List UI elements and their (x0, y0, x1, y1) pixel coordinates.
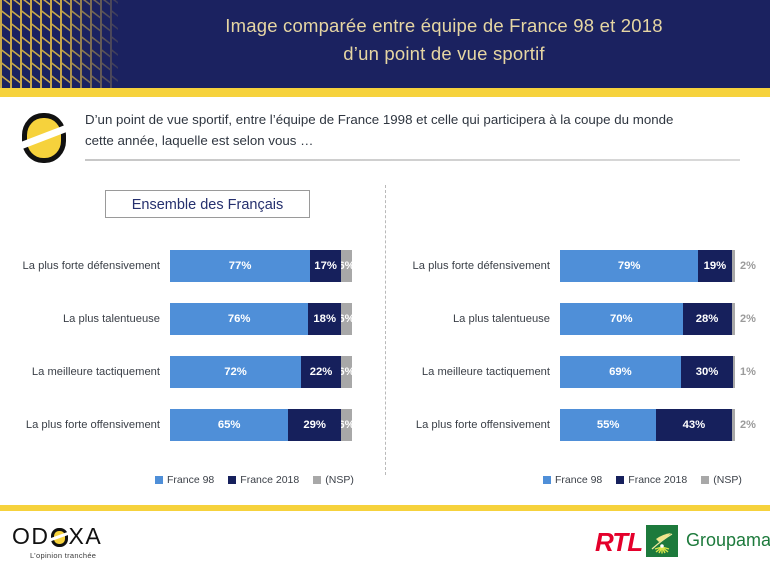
odoxa-coin-icon (22, 113, 66, 163)
bar-segment-3: 6% (341, 303, 352, 335)
bar-segment-1: 79% (560, 250, 698, 282)
odoxa-logo-coin-icon (51, 527, 68, 547)
legend-label: (NSP) (325, 474, 354, 486)
legend-swatch-icon (313, 476, 321, 484)
bar-category-label: La plus forte offensivement (395, 418, 550, 432)
bar-category-label: La plus forte défensivement (8, 259, 160, 273)
bar-segment-2: 28% (683, 303, 732, 335)
slide-root: Image comparée entre équipe de France 98… (0, 0, 770, 570)
bar-segment-3 (732, 409, 736, 441)
bar-outside-value-label: 1% (740, 356, 756, 388)
legend-swatch-icon (543, 476, 551, 484)
legend-item: France 98 (155, 474, 214, 486)
bar-category-label: La plus talentueuse (8, 312, 160, 326)
stacked-bar-row: 55%43% (560, 409, 735, 441)
page-title-line2: d’un point de vue sportif (118, 40, 770, 68)
bar-category-label: La meilleure tactiquement (395, 365, 550, 379)
bar-segment-1: 77% (170, 250, 310, 282)
bar-category-label: La plus forte défensivement (395, 259, 550, 273)
legend-left: France 98France 2018(NSP) (155, 474, 354, 486)
bar-segment-2: 19% (698, 250, 731, 282)
legend-label: France 2018 (628, 474, 687, 486)
bar-segment-1: 69% (560, 356, 681, 388)
question-line-1: D’un point de vue sportif, entre l’équip… (85, 109, 745, 130)
legend-label: France 98 (167, 474, 214, 486)
odoxa-tagline: L’opinion tranchée (30, 551, 96, 560)
stacked-bar-row: 79%19% (560, 250, 735, 282)
legend-item: (NSP) (701, 474, 742, 486)
groupama-dandelion-icon (646, 525, 678, 557)
rtl-logo: RTL (595, 527, 642, 558)
legend-item: France 98 (543, 474, 602, 486)
legend-swatch-icon (616, 476, 624, 484)
header-banner: Image comparée entre équipe de France 98… (0, 0, 770, 88)
bar-segment-2: 17% (310, 250, 341, 282)
question-text: D’un point de vue sportif, entre l’équip… (85, 109, 745, 151)
bar-segment-2: 30% (681, 356, 734, 388)
legend-swatch-icon (155, 476, 163, 484)
bar-outside-value-label: 2% (740, 409, 756, 441)
page-title-line1: Image comparée entre équipe de France 98… (118, 12, 770, 40)
bar-segment-3 (732, 250, 736, 282)
footer: OD XA L’opinion tranchée RTL Groupama (0, 511, 770, 570)
odoxa-logo-text-a: OD (12, 523, 50, 550)
odoxa-logo-text-b: XA (69, 523, 103, 550)
legend-item: France 2018 (228, 474, 299, 486)
stacked-bar-row: 77%17%6% (170, 250, 352, 282)
groupama-logo-text: Groupama (686, 530, 770, 551)
bar-segment-1: 72% (170, 356, 301, 388)
header-accent-band (0, 88, 770, 97)
bar-segment-2: 18% (308, 303, 341, 335)
bar-segment-1: 55% (560, 409, 656, 441)
legend-swatch-icon (228, 476, 236, 484)
page-title: Image comparée entre équipe de France 98… (118, 12, 770, 68)
bar-segment-3 (732, 303, 736, 335)
legend-label: France 98 (555, 474, 602, 486)
bar-segment-3: 6% (341, 356, 352, 388)
bar-category-label: La plus talentueuse (395, 312, 550, 326)
question-divider (85, 159, 740, 161)
legend-item: (NSP) (313, 474, 354, 486)
legend-swatch-icon (701, 476, 709, 484)
bar-outside-value-label: 2% (740, 250, 756, 282)
bar-segment-3: 6% (341, 409, 352, 441)
bar-segment-3: 6% (341, 250, 352, 282)
chart-panel-ensemble: Ensemble des Français La plus forte défe… (0, 172, 385, 502)
bar-segment-2: 22% (301, 356, 341, 388)
bar-segment-1: 65% (170, 409, 288, 441)
stacked-bar-row: 72%22%6% (170, 356, 352, 388)
stacked-bar-row: 65%29%6% (170, 409, 352, 441)
odoxa-logo: OD XA (12, 523, 102, 550)
bar-segment-3 (733, 356, 735, 388)
legend-right: France 98France 2018(NSP) (543, 474, 742, 486)
stacked-bar-row: 69%30% (560, 356, 735, 388)
question-section: D’un point de vue sportif, entre l’équip… (0, 97, 770, 172)
question-line-2: cette année, laquelle est selon vous … (85, 130, 745, 151)
bar-category-label: La meilleure tactiquement (8, 365, 160, 379)
bar-segment-2: 43% (656, 409, 731, 441)
legend-label: (NSP) (713, 474, 742, 486)
bar-segment-1: 70% (560, 303, 683, 335)
stacked-bar-row: 70%28% (560, 303, 735, 335)
stacked-bar-row: 76%18%6% (170, 303, 352, 335)
panel-heading-left: Ensemble des Français (105, 190, 310, 218)
legend-label: France 2018 (240, 474, 299, 486)
legend-item: France 2018 (616, 474, 687, 486)
bar-segment-1: 76% (170, 303, 308, 335)
bar-segment-2: 29% (288, 409, 341, 441)
bar-category-label: La plus forte offensivement (8, 418, 160, 432)
bar-outside-value-label: 2% (740, 303, 756, 335)
chart-panel-amateurs: Amateurs de football La plus forte défen… (385, 172, 770, 502)
